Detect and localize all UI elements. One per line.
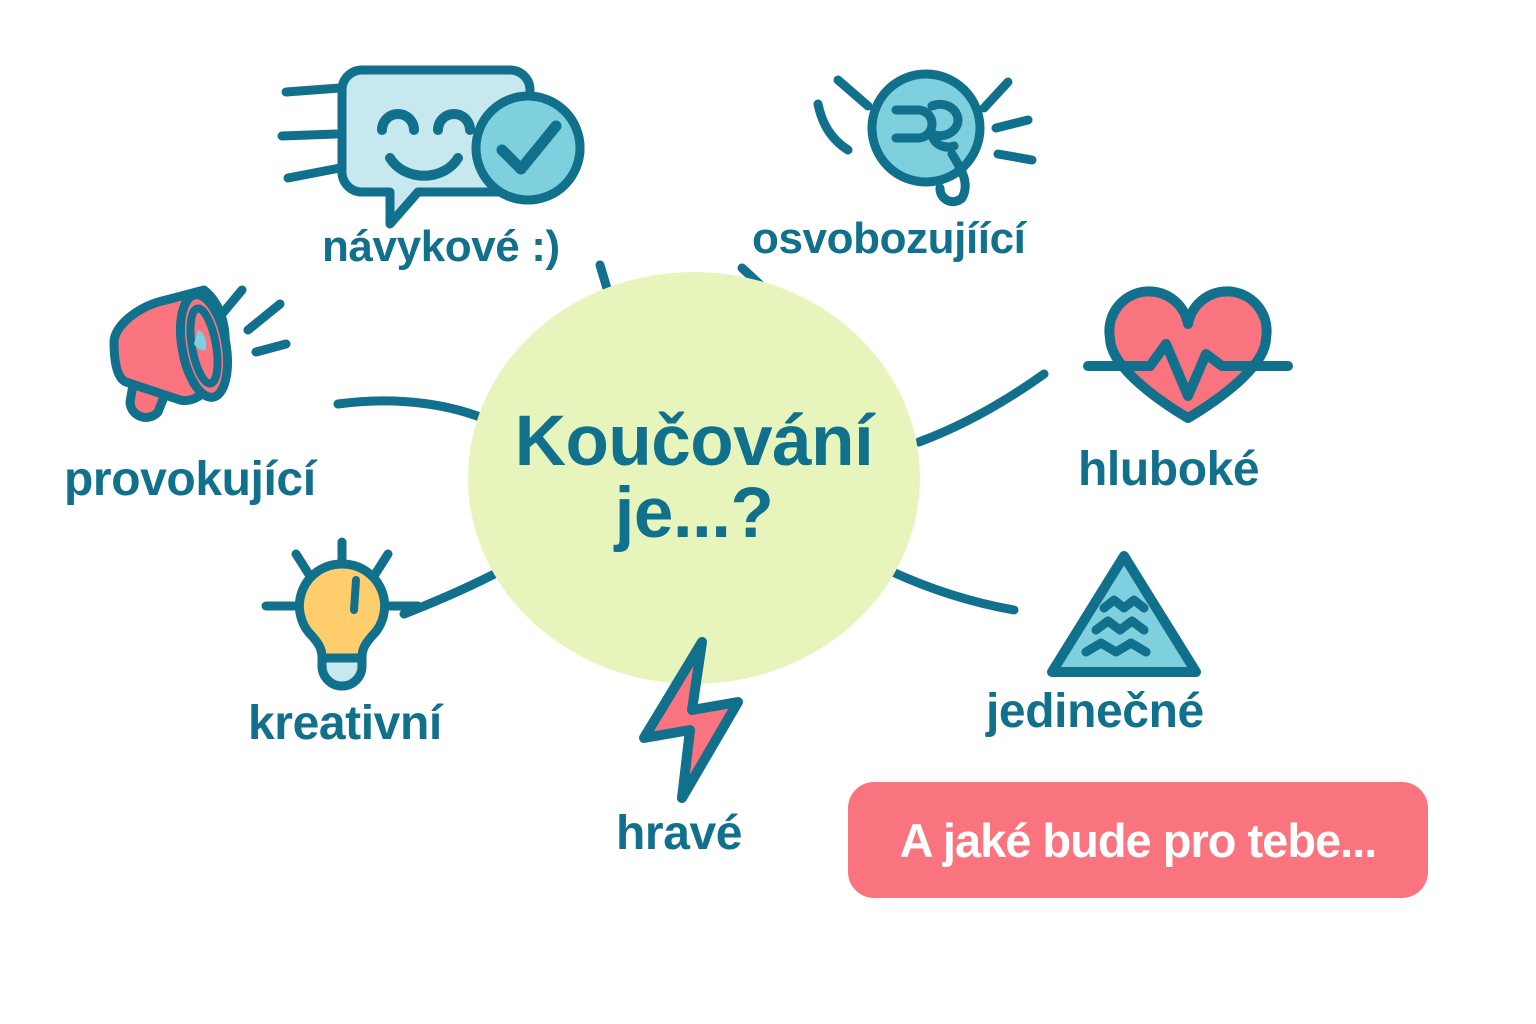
bulb-ray-upper-right [374,554,388,576]
connector-hluboke [919,374,1044,442]
bulb-filament [354,580,356,610]
infographic-canvas: Koučování je...? návykové :) [0,0,1536,1024]
balloon-ray-1 [838,80,868,106]
megaphone-ray-2 [248,304,280,330]
cta-banner[interactable]: A jaké bude pro tebe... [848,782,1428,898]
triangle-waves-icon [1044,548,1204,680]
balloon-ray-5 [998,154,1032,160]
lightbulb-icon [252,538,432,696]
connector-jedinecne [884,568,1014,610]
megaphone-icon [100,282,290,428]
node-label-provokujici: provokující [64,452,316,507]
check-circle [476,96,580,200]
bolt-shape [644,642,738,798]
heart-pulse-icon [1082,298,1294,426]
cta-banner-text: A jaké bude pro tebe... [900,813,1377,868]
balloon-ray-2 [818,104,848,150]
balloon-ray-4 [996,120,1028,128]
node-label-hluboke: hluboké [1078,442,1259,497]
broken-chain-balloon-icon [812,62,1044,214]
center-circle [468,272,920,684]
connector-provokujici [338,401,492,422]
node-label-kreativni: kreativní [248,696,442,751]
bulb-glass [299,564,384,658]
megaphone-ray-1 [222,290,242,314]
bubble-ray-2 [282,134,336,136]
node-label-jedinecne: jedinečné [986,684,1204,739]
triangle-shape [1052,556,1196,672]
bulb-ray-upper-left [296,554,310,576]
bulb-base [322,658,362,686]
balloon-ray-3 [984,82,1008,108]
bubble-ray-3 [288,168,340,178]
smiling-speech-bubble-check-icon [278,58,598,230]
bubble-ray-1 [286,88,340,92]
megaphone-ray-3 [256,344,286,352]
node-label-navykove: návykové :) [322,222,560,272]
lightning-bolt-icon [630,634,758,806]
node-label-osvobozujici: osvobozujíící [752,214,1026,264]
node-label-hrave: hravé [616,806,742,861]
